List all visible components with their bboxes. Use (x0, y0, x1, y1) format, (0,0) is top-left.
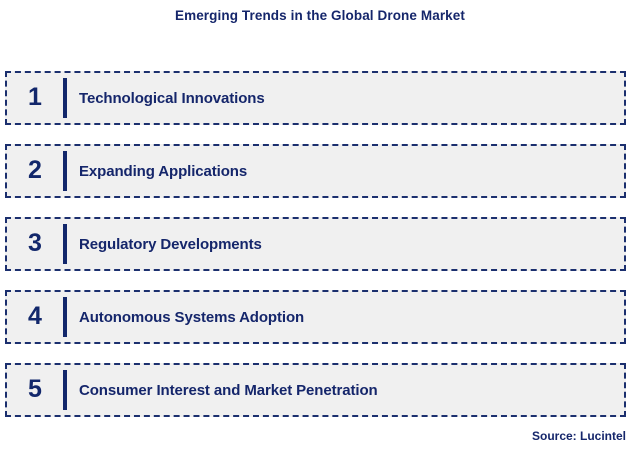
trend-number: 3 (7, 231, 63, 258)
trend-label: Technological Innovations (67, 90, 624, 107)
list-item: 4 Autonomous Systems Adoption (5, 290, 626, 344)
list-item: 5 Consumer Interest and Market Penetrati… (5, 363, 626, 417)
trend-label: Regulatory Developments (67, 236, 624, 253)
trend-number: 2 (7, 158, 63, 185)
list-item: 1 Technological Innovations (5, 71, 626, 125)
trends-infographic: Emerging Trends in the Global Drone Mark… (0, 0, 640, 454)
list-item: 2 Expanding Applications (5, 144, 626, 198)
source-attribution: Source: Lucintel (532, 429, 626, 443)
trend-number: 4 (7, 304, 63, 331)
trend-label: Expanding Applications (67, 163, 624, 180)
list-item: 3 Regulatory Developments (5, 217, 626, 271)
trend-number: 1 (7, 85, 63, 112)
page-title: Emerging Trends in the Global Drone Mark… (0, 8, 640, 23)
trend-list: 1 Technological Innovations 2 Expanding … (5, 71, 626, 417)
trend-number: 5 (7, 377, 63, 404)
trend-label: Autonomous Systems Adoption (67, 309, 624, 326)
trend-label: Consumer Interest and Market Penetration (67, 382, 624, 399)
